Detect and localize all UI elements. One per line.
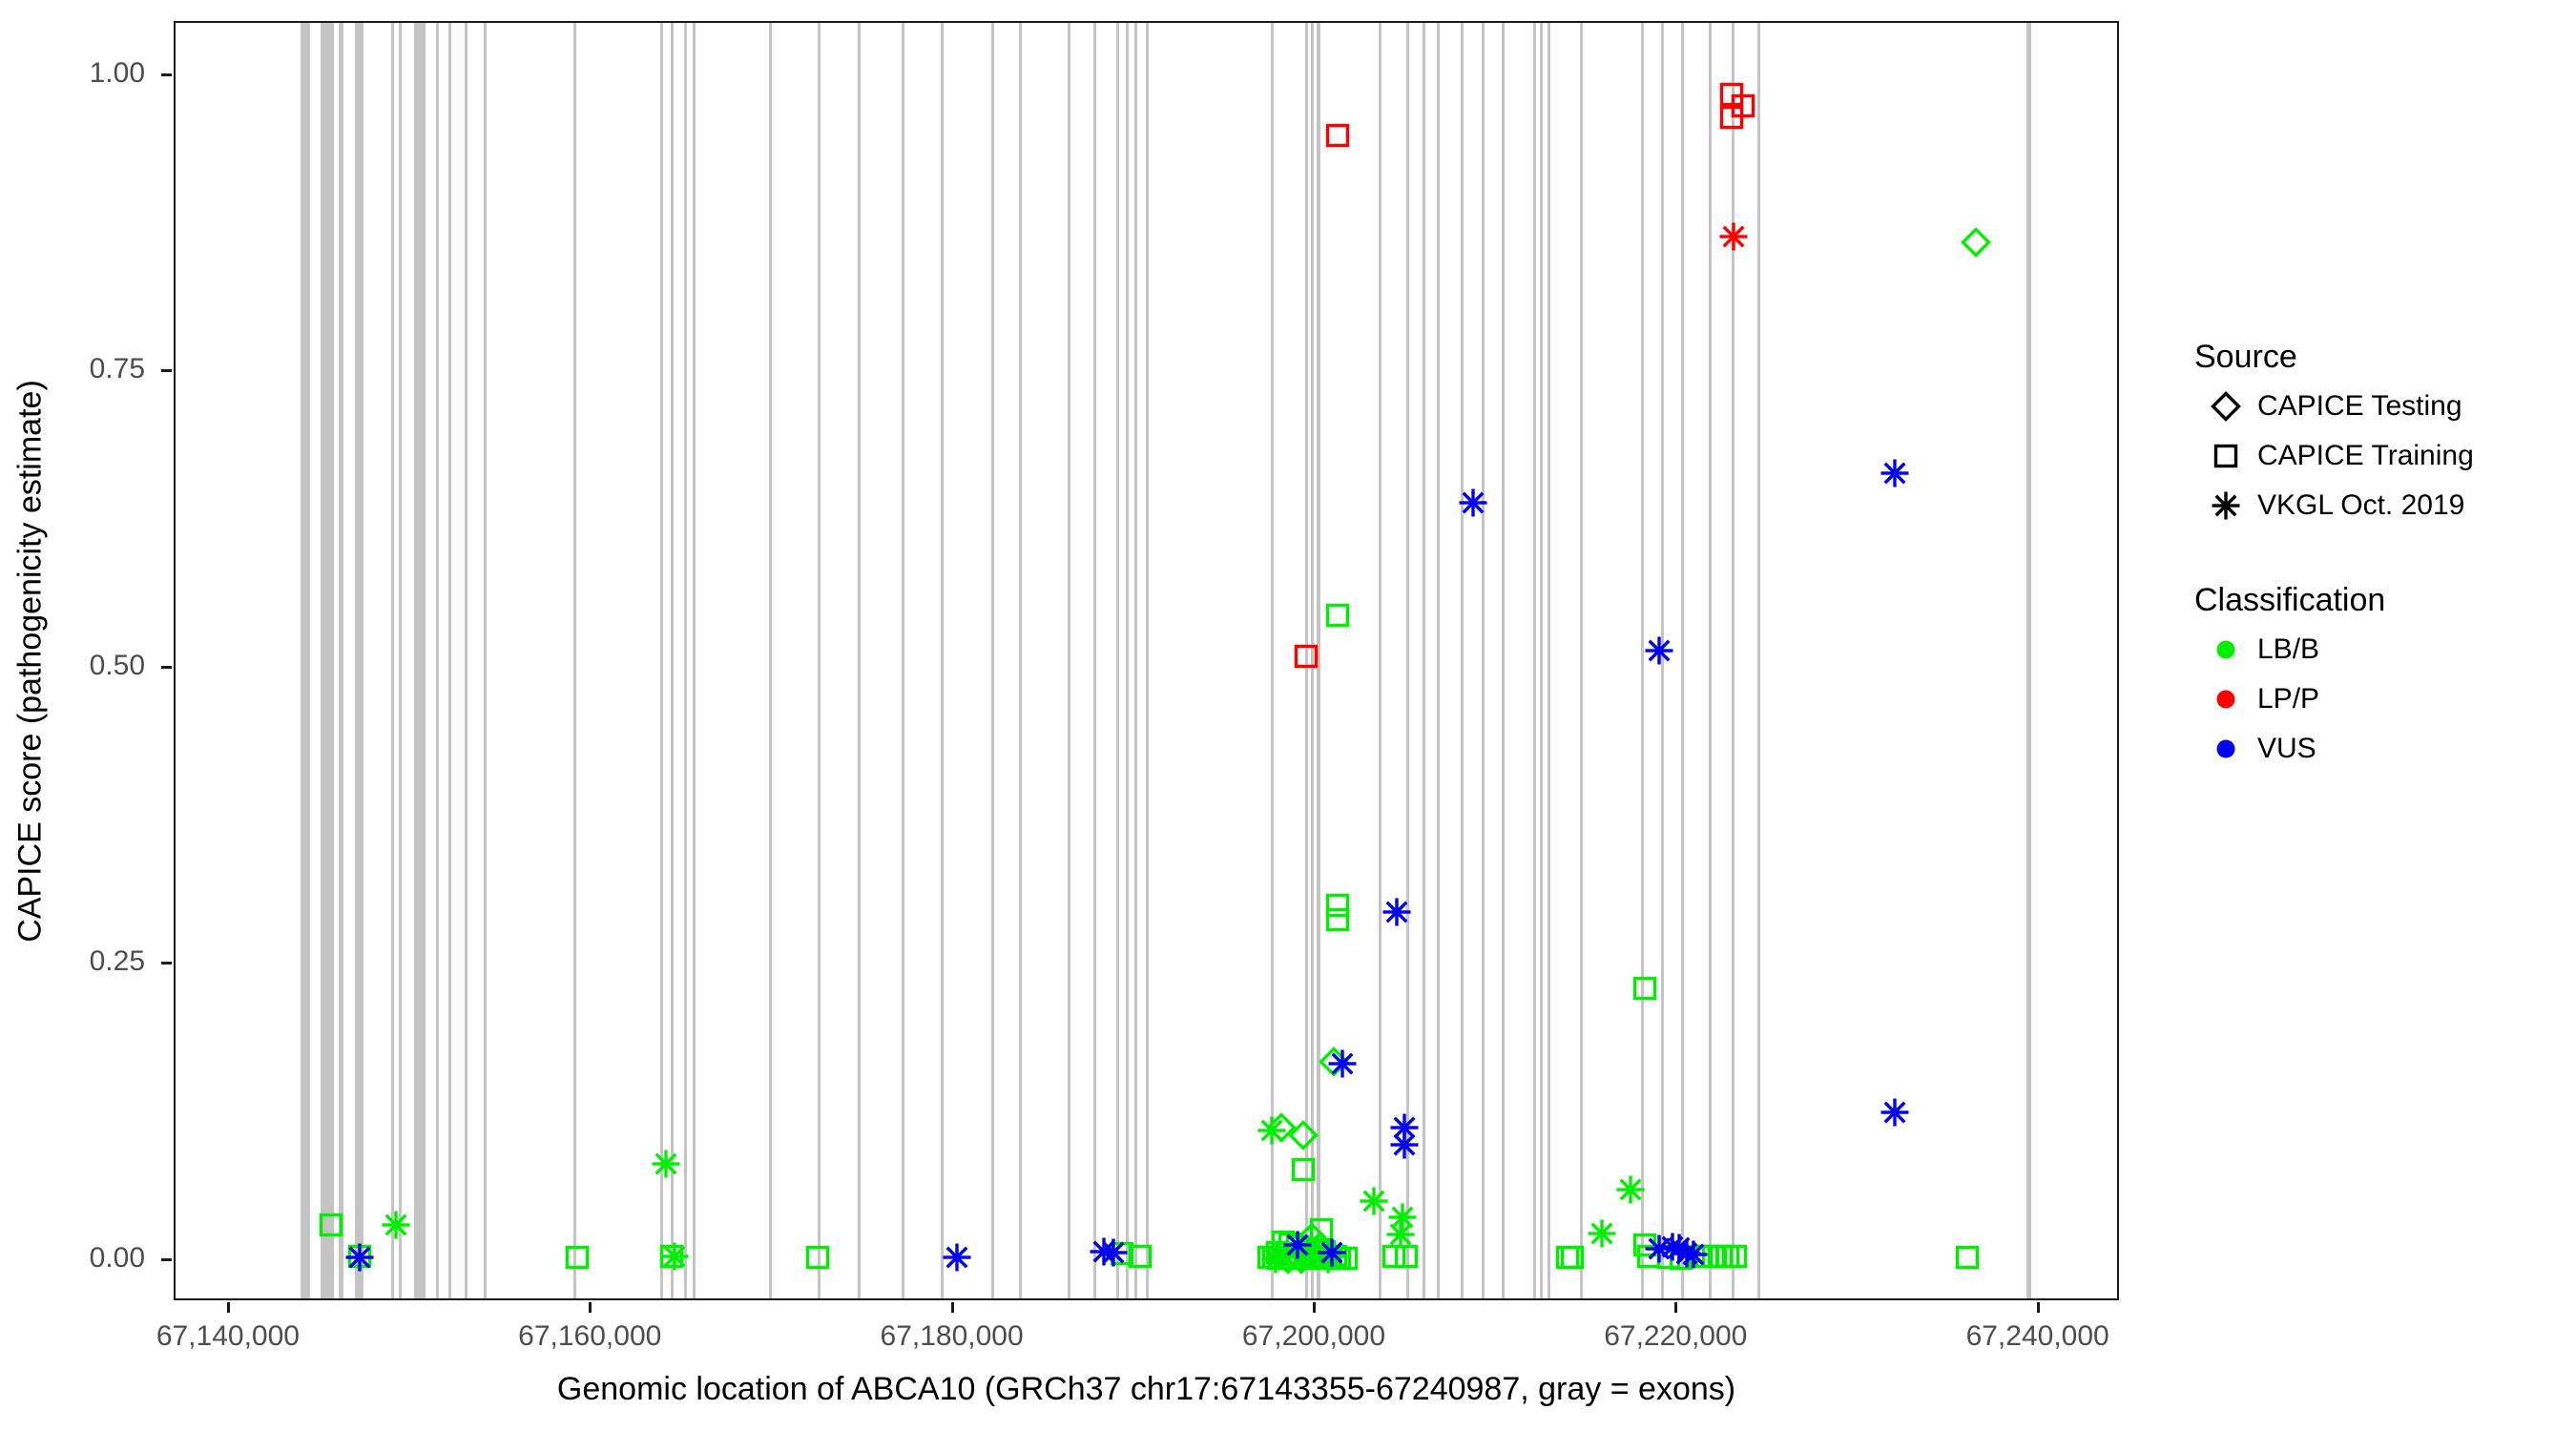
legend-classification-label: LB/B (2257, 633, 2319, 666)
exon-band (436, 23, 439, 1298)
exon-band (1482, 23, 1485, 1298)
data-point (1106, 1237, 1138, 1270)
data-point (1259, 1243, 1292, 1275)
x-tick-mark (1313, 1302, 1316, 1313)
data-point (1253, 1241, 1285, 1274)
exon-band (1681, 23, 1684, 1298)
exon-band (1317, 23, 1320, 1298)
x-tick-label: 67,180,000 (809, 1320, 1095, 1353)
y-tick-mark (161, 962, 172, 964)
data-point (1586, 1217, 1618, 1250)
data-point (1643, 1233, 1675, 1265)
exon-band (573, 23, 576, 1298)
exon-band (339, 23, 344, 1298)
x-tick-label: 67,160,000 (447, 1320, 733, 1353)
exon-band (391, 23, 394, 1298)
data-point (1632, 1240, 1665, 1273)
legend: Source CAPICE TestingCAPICE TrainingVKGL… (2194, 339, 2576, 774)
exon-band (448, 23, 451, 1298)
exon-band (1461, 23, 1464, 1298)
data-point (1097, 1236, 1130, 1269)
data-point (1281, 1229, 1314, 1261)
data-point (1551, 1241, 1584, 1274)
data-point (1310, 1240, 1342, 1273)
plot-area (176, 23, 2117, 1298)
legend-classification-items: LB/BLP/PVUS (2194, 625, 2576, 774)
data-point (1643, 634, 1675, 667)
exon-band (1379, 23, 1381, 1298)
data-point (380, 1209, 412, 1241)
exon-band (684, 23, 687, 1298)
data-point (1712, 1240, 1744, 1273)
exon-band (1437, 23, 1440, 1298)
data-point (1124, 1240, 1156, 1273)
diamond-icon (2194, 382, 2257, 431)
data-point (1652, 1241, 1685, 1274)
data-point (1271, 1237, 1303, 1270)
y-tick-mark (161, 666, 172, 669)
exon-band (321, 23, 334, 1298)
data-point (1629, 972, 1661, 1005)
legend-source-items: CAPICE TestingCAPICE TrainingVKGL Oct. 2… (2194, 382, 2576, 530)
data-point (1261, 1236, 1294, 1269)
data-point (1384, 1218, 1417, 1251)
exon-band (1146, 23, 1149, 1298)
exon-band (1502, 23, 1505, 1298)
legend-source-label: CAPICE Training (2257, 440, 2474, 472)
legend-item[interactable]: LB/B (2194, 625, 2576, 674)
exon-band (902, 23, 904, 1298)
y-tick-label: 0.75 (21, 355, 145, 384)
data-point (1276, 1242, 1308, 1275)
exon-band (1311, 23, 1314, 1298)
legend-spacer (2194, 530, 2576, 582)
exon-band (1661, 23, 1664, 1298)
data-point (1287, 1119, 1319, 1151)
data-point (1257, 1241, 1290, 1274)
exon-band (1126, 23, 1129, 1298)
legend-item[interactable]: VKGL Oct. 2019 (2194, 481, 2576, 530)
legend-item[interactable]: VUS (2194, 724, 2576, 774)
data-point (1691, 1240, 1723, 1273)
legend-item[interactable]: CAPICE Testing (2194, 382, 2576, 431)
exon-band (1406, 23, 1409, 1298)
exon-band (858, 23, 861, 1298)
legend-source-label: CAPICE Testing (2257, 390, 2462, 423)
exon-band (1540, 23, 1543, 1298)
data-point (1663, 1232, 1695, 1264)
legend-classification-label: LP/P (2257, 683, 2319, 715)
exon-band (1134, 23, 1137, 1298)
data-point (1719, 1240, 1752, 1273)
legend-source-title: Source (2194, 339, 2576, 376)
legend-classification-title: Classification (2194, 582, 2576, 619)
x-tick-label: 67,240,000 (1895, 1320, 2181, 1353)
exon-band (693, 23, 696, 1298)
y-tick-label: 1.00 (21, 59, 145, 88)
exon-band (465, 23, 467, 1298)
x-tick-mark (951, 1302, 954, 1313)
data-point (1318, 1046, 1350, 1078)
y-tick-mark (161, 73, 172, 76)
data-point (1287, 1153, 1319, 1186)
x-tick-label: 67,200,000 (1171, 1320, 1457, 1353)
data-point (1879, 457, 1911, 489)
data-point (1318, 1240, 1350, 1273)
data-point (1388, 1111, 1421, 1144)
exon-band (484, 23, 487, 1298)
plot-panel (174, 21, 2119, 1300)
exon-band (1641, 23, 1644, 1298)
data-point (1316, 1236, 1348, 1269)
exon-band (660, 23, 663, 1298)
data-point (1263, 1242, 1296, 1275)
exon-band (1116, 23, 1119, 1298)
exon-band (769, 23, 772, 1298)
exon-band (1533, 23, 1536, 1298)
y-tick-label: 0.50 (21, 652, 145, 680)
data-point (1269, 1242, 1301, 1275)
x-tick-mark (1674, 1302, 1677, 1313)
x-tick-label: 67,140,000 (85, 1320, 371, 1353)
legend-classification-label: VUS (2257, 733, 2316, 765)
data-point (1879, 1096, 1911, 1129)
data-point (1386, 1201, 1419, 1234)
class-dot-icon (2194, 724, 2257, 774)
y-tick-label: 0.00 (21, 1244, 145, 1273)
data-point (1697, 1240, 1730, 1273)
exon-band (1068, 23, 1070, 1298)
exon-band (941, 23, 944, 1298)
exon-band (1548, 23, 1550, 1298)
data-point (941, 1241, 973, 1274)
exon-band (991, 23, 994, 1298)
data-point (561, 1241, 593, 1274)
exon-band (355, 23, 364, 1298)
data-point (1321, 903, 1354, 936)
data-point (1951, 1241, 1984, 1274)
data-point (1323, 1242, 1356, 1275)
exon-band (818, 23, 821, 1298)
exon-band (414, 23, 425, 1298)
exon-band (1757, 23, 1760, 1298)
data-point (1319, 1240, 1352, 1273)
exon-band (1019, 23, 1022, 1298)
data-point (1272, 1243, 1304, 1275)
exon-band (399, 23, 402, 1298)
exon-band (671, 23, 674, 1298)
x-axis-title: Genomic location of ABCA10 (GRCh37 chr17… (174, 1371, 2119, 1408)
data-point (1326, 1047, 1359, 1080)
exon-band (1305, 23, 1308, 1298)
data-point (650, 1148, 682, 1180)
exon-band (301, 23, 310, 1298)
data-point (1960, 226, 1992, 259)
data-point (1321, 599, 1354, 632)
data-point (1330, 1242, 1362, 1275)
asterisk-icon (2194, 481, 2257, 530)
data-point (1671, 1237, 1703, 1270)
class-dot-icon (2194, 674, 2257, 724)
chart-root: CAPICE score (pathogenicity estimate) 0.… (0, 0, 2576, 1431)
data-point (1556, 1241, 1589, 1274)
data-point (1305, 1213, 1338, 1246)
legend-source-label: VKGL Oct. 2019 (2257, 489, 2464, 522)
exon-band (1709, 23, 1712, 1298)
legend-item[interactable]: CAPICE Training (2194, 431, 2576, 481)
exon-band (1423, 23, 1425, 1298)
x-tick-mark (2037, 1302, 2040, 1313)
data-point (1388, 1129, 1421, 1161)
x-tick-mark (589, 1302, 592, 1313)
exon-band (2026, 23, 2030, 1298)
x-tick-mark (227, 1302, 230, 1313)
exon-band (1271, 23, 1274, 1298)
data-point (1274, 1228, 1306, 1260)
data-point (1281, 1231, 1314, 1263)
exon-band (1732, 23, 1735, 1298)
class-dot-icon (2194, 625, 2257, 674)
data-point (1321, 889, 1354, 922)
y-tick-mark (161, 369, 172, 372)
data-point (1629, 1229, 1661, 1261)
exon-band (1093, 23, 1096, 1298)
x-tick-label: 67,220,000 (1532, 1320, 1818, 1353)
legend-item[interactable]: LP/P (2194, 674, 2576, 724)
exon-band (1580, 23, 1583, 1298)
square-icon (2194, 431, 2257, 481)
data-point (1378, 1240, 1410, 1273)
y-tick-mark (161, 1258, 172, 1261)
data-point (1358, 1185, 1390, 1217)
data-point (1321, 119, 1354, 152)
y-tick-label: 0.25 (21, 947, 145, 976)
